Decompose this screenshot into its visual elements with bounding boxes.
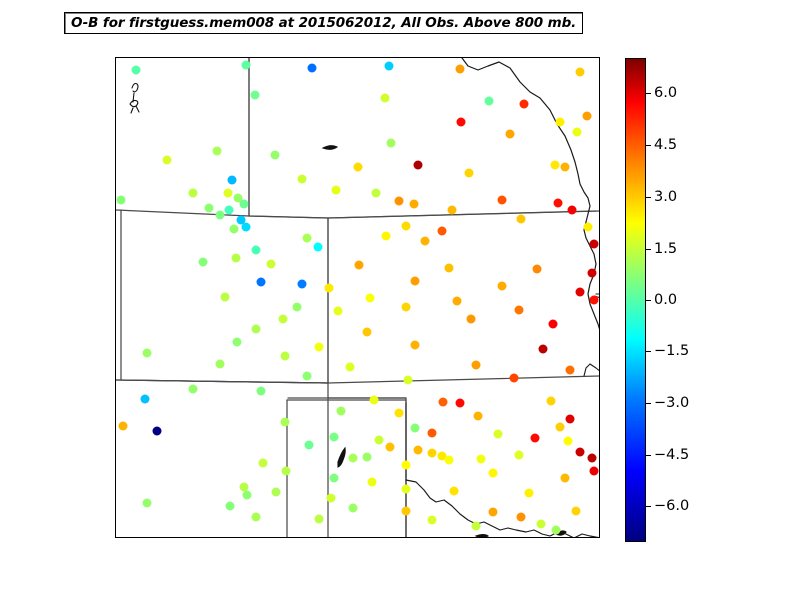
observation-point — [330, 473, 339, 482]
observation-point — [474, 411, 483, 420]
observation-point — [576, 68, 585, 77]
observation-point — [385, 442, 394, 451]
observation-point — [119, 421, 128, 430]
observation-point — [515, 451, 524, 460]
observation-point — [307, 64, 316, 73]
observation-point — [428, 516, 437, 525]
observation-point — [520, 99, 529, 108]
observation-point — [401, 506, 410, 515]
observation-point — [252, 245, 261, 254]
observation-point — [363, 327, 372, 336]
observation-point — [488, 508, 497, 517]
observation-point — [382, 232, 391, 241]
observation-point — [336, 406, 345, 415]
observation-point — [455, 64, 464, 73]
observation-point — [346, 362, 355, 371]
observation-point — [438, 227, 447, 236]
colorbar-tick-label: −1.5 — [654, 343, 689, 359]
observation-point — [132, 66, 141, 75]
observation-point — [250, 90, 259, 99]
observation-point — [556, 422, 565, 431]
observation-point — [225, 501, 234, 510]
observation-point — [282, 466, 291, 475]
colorbar-tick-label: 1.5 — [654, 241, 677, 257]
observation-point — [348, 504, 357, 513]
colorbar-tick-mark — [646, 93, 651, 94]
figure-canvas: O-B for firstguess.mem008 at 2015062012,… — [0, 0, 800, 600]
colorbar-tick-mark — [646, 403, 651, 404]
observation-point — [452, 297, 461, 306]
colorbar-tick-label: 0.0 — [654, 292, 677, 308]
observation-point — [524, 488, 533, 497]
observation-point — [464, 168, 473, 177]
observation-point — [450, 487, 459, 496]
observation-point — [531, 433, 540, 442]
observation-point — [334, 306, 343, 315]
observation-point — [575, 287, 584, 296]
observation-point — [561, 163, 570, 172]
observation-point — [278, 315, 287, 324]
observation-point — [575, 448, 584, 457]
observation-point — [365, 293, 374, 302]
colorbar-tick-mark — [646, 455, 651, 456]
observation-point — [302, 371, 311, 380]
observation-point — [252, 512, 261, 521]
observation-point — [552, 525, 561, 534]
observation-point — [215, 210, 224, 219]
observation-point — [324, 283, 333, 292]
observation-point — [411, 423, 420, 432]
observation-point — [445, 263, 454, 272]
colorbar-tick-mark — [646, 197, 651, 198]
observation-point — [385, 61, 394, 70]
observation-point — [375, 436, 384, 445]
observation-point — [414, 161, 423, 170]
observation-point — [252, 325, 261, 334]
observation-point — [471, 522, 480, 531]
observation-point — [428, 428, 437, 437]
observation-point — [516, 215, 525, 224]
observation-point — [363, 452, 372, 461]
observation-point — [162, 156, 171, 165]
observation-point — [498, 282, 507, 291]
observation-point — [215, 359, 224, 368]
observation-point — [354, 260, 363, 269]
observation-point — [404, 376, 413, 385]
observation-point — [573, 127, 582, 136]
observation-point — [189, 188, 198, 197]
colorbar-tick-mark — [646, 249, 651, 250]
observation-point — [564, 437, 573, 446]
observation-point — [198, 257, 207, 266]
observation-point — [205, 203, 214, 212]
observation-point — [232, 337, 241, 346]
observation-point — [413, 445, 422, 454]
observation-point — [230, 225, 239, 234]
observation-point — [485, 96, 494, 105]
colorbar-tick-mark — [646, 506, 651, 507]
observation-point — [293, 303, 302, 312]
observation-point — [243, 490, 252, 499]
observation-point — [590, 295, 599, 304]
observation-point — [271, 150, 280, 159]
observation-point — [140, 395, 149, 404]
observation-point — [116, 196, 125, 205]
observation-point — [498, 195, 507, 204]
colorbar-tick-label: 4.5 — [654, 137, 677, 153]
observation-point — [266, 259, 275, 268]
observation-point — [476, 455, 485, 464]
observation-point — [493, 430, 502, 439]
observation-point — [224, 205, 233, 214]
observation-point — [227, 175, 236, 184]
observation-point — [326, 493, 335, 502]
observation-point — [331, 185, 340, 194]
observation-point — [401, 485, 410, 494]
observation-point — [281, 418, 290, 427]
colorbar-tick-label: −4.5 — [654, 447, 689, 463]
observation-point — [590, 239, 599, 248]
observation-point — [549, 320, 558, 329]
observation-point — [556, 117, 565, 126]
observation-point — [314, 342, 323, 351]
observation-point — [584, 223, 593, 232]
observation-point — [297, 280, 306, 289]
observation-point — [515, 306, 524, 315]
observation-point — [302, 233, 311, 242]
observation-point — [550, 161, 559, 170]
observation-point — [566, 414, 575, 423]
observation-point — [566, 366, 575, 375]
observation-point — [488, 468, 497, 477]
observation-point — [571, 506, 580, 515]
observation-point — [330, 433, 339, 442]
colorbar-tick-mark — [646, 300, 651, 301]
observation-point — [553, 198, 562, 207]
colorbar-tick-label: −6.0 — [654, 498, 689, 514]
observation-point — [259, 458, 268, 467]
map-plot-area — [115, 57, 600, 538]
observation-point — [314, 514, 323, 523]
observation-point — [401, 221, 410, 230]
plot-title-box: O-B for firstguess.mem008 at 2015062012,… — [64, 12, 583, 34]
observation-point — [281, 351, 290, 360]
observation-point — [582, 112, 591, 121]
observation-point — [242, 61, 251, 70]
observation-point — [457, 117, 466, 126]
observation-point — [143, 498, 152, 507]
observation-point — [394, 197, 403, 206]
observation-point — [305, 441, 314, 450]
observation-point — [471, 361, 480, 370]
observation-point — [510, 373, 519, 382]
observation-point — [239, 199, 248, 208]
colorbar — [625, 58, 646, 542]
observation-point — [401, 461, 410, 470]
observation-point — [421, 237, 430, 246]
observation-point — [410, 199, 419, 208]
observation-point — [380, 93, 389, 102]
observation-point — [272, 487, 281, 496]
page-title: O-B for firstguess.mem008 at 2015062012,… — [71, 15, 576, 31]
observation-point — [313, 243, 322, 252]
observation-point — [467, 315, 476, 324]
observation-point — [516, 512, 525, 521]
observation-point — [445, 456, 454, 465]
observation-point — [256, 277, 265, 286]
observation-point — [367, 478, 376, 487]
observation-point — [395, 409, 404, 418]
observation-points-layer — [116, 58, 599, 537]
observation-point — [505, 129, 514, 138]
observation-point — [568, 206, 577, 215]
observation-point — [411, 277, 420, 286]
observation-point — [231, 254, 240, 263]
observation-point — [297, 175, 306, 184]
observation-point — [590, 466, 599, 475]
observation-point — [587, 268, 596, 277]
observation-point — [371, 189, 380, 198]
observation-point — [537, 519, 546, 528]
observation-point — [224, 188, 233, 197]
colorbar-tick-label: 3.0 — [654, 189, 677, 205]
observation-point — [438, 397, 447, 406]
observation-point — [587, 454, 596, 463]
observation-point — [456, 398, 465, 407]
observation-point — [189, 384, 198, 393]
observation-point — [561, 473, 570, 482]
observation-point — [386, 139, 395, 148]
observation-point — [353, 163, 362, 172]
observation-point — [370, 396, 379, 405]
observation-point — [213, 146, 222, 155]
colorbar-tick-label: 6.0 — [654, 85, 677, 101]
observation-point — [533, 264, 542, 273]
observation-point — [539, 344, 548, 353]
colorbar-tick-mark — [646, 351, 651, 352]
colorbar-tick-label: −3.0 — [654, 395, 689, 411]
observation-point — [143, 348, 152, 357]
observation-point — [236, 215, 245, 224]
observation-point — [348, 453, 357, 462]
observation-point — [546, 396, 555, 405]
observation-point — [153, 426, 162, 435]
observation-point — [428, 448, 437, 457]
observation-point — [411, 341, 420, 350]
observation-point — [220, 292, 229, 301]
colorbar-tick-mark — [646, 145, 651, 146]
observation-point — [447, 206, 456, 215]
observation-point — [401, 303, 410, 312]
observation-point — [256, 386, 265, 395]
